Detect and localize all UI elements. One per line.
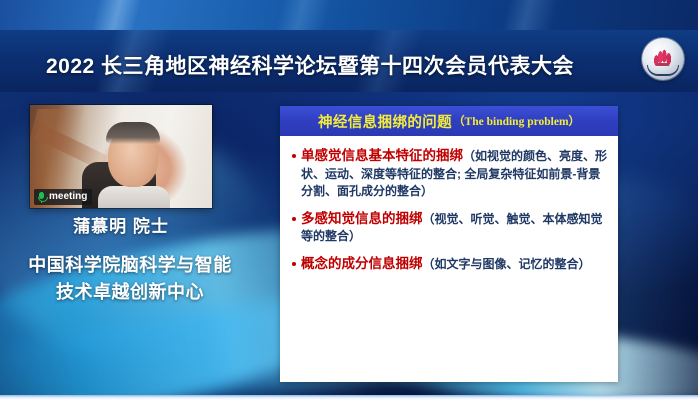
microphone-icon bbox=[37, 192, 46, 203]
background-bottom-edge bbox=[0, 395, 698, 400]
bullet-lead-text: 多感知觉信息的捆绑 bbox=[301, 211, 423, 226]
presentation-slide[interactable]: 神经信息捆绑的问题 （The binding problem） 单感觉信息基本特… bbox=[280, 106, 618, 382]
bullet-lead-text: 概念的成分信息捆绑 bbox=[301, 256, 423, 271]
meeting-watermark-badge: meeting bbox=[34, 189, 92, 205]
slide-title-english: （The binding problem） bbox=[453, 113, 580, 129]
slide-title-bar: 神经信息捆绑的问题 （The binding problem） bbox=[280, 106, 618, 136]
bullet-lead-text: 单感觉信息基本特征的捆绑 bbox=[301, 148, 463, 163]
emblem-arc-shape bbox=[647, 65, 679, 76]
speaker-video-panel[interactable]: meeting bbox=[30, 105, 212, 208]
speaker-affiliation-line2: 技术卓越创新中心 bbox=[6, 279, 254, 306]
bullet-text: 单感觉信息基本特征的捆绑（如视觉的颜色、亮度、形状、运动、深度等特征的整合; 全… bbox=[301, 147, 608, 201]
speaker-affiliation-line1: 中国科学院脑科学与智能 bbox=[6, 252, 254, 279]
slide-title-chinese: 神经信息捆绑的问题 bbox=[318, 111, 452, 132]
slide-body: 单感觉信息基本特征的捆绑（如视觉的颜色、亮度、形状、运动、深度等特征的整合; 全… bbox=[280, 136, 618, 273]
bullet-dot-icon bbox=[292, 262, 296, 266]
presentation-screen: 2022 长三角地区神经科学论坛暨第十四次会员代表大会 meeting 蒲慕明 … bbox=[0, 0, 698, 400]
bullet-text: 多感知觉信息的捆绑（视觉、听觉、触觉、本体感知觉等的整合） bbox=[301, 210, 608, 246]
video-speaker-hair bbox=[106, 122, 160, 144]
bullet-dot-icon bbox=[292, 154, 296, 158]
meeting-badge-label: meeting bbox=[49, 192, 87, 202]
slide-bullet-3: 概念的成分信息捆绑（如文字与图像、记忆的整合） bbox=[290, 255, 608, 274]
slide-bullet-1: 单感觉信息基本特征的捆绑（如视觉的颜色、亮度、形状、运动、深度等特征的整合; 全… bbox=[290, 147, 608, 201]
conference-title: 2022 长三角地区神经科学论坛暨第十四次会员代表大会 bbox=[46, 50, 574, 80]
speaker-name: 蒲慕明 院士 bbox=[30, 212, 212, 237]
slide-bullet-2: 多感知觉信息的捆绑（视觉、听觉、触觉、本体感知觉等的整合） bbox=[290, 210, 608, 246]
speaker-affiliation: 中国科学院脑科学与智能 技术卓越创新中心 bbox=[6, 252, 254, 306]
bullet-rest-text: （如文字与图像、记忆的整合） bbox=[423, 257, 591, 271]
bullet-text: 概念的成分信息捆绑（如文字与图像、记忆的整合） bbox=[301, 255, 608, 274]
video-speaker-shirt bbox=[98, 186, 170, 208]
bullet-dot-icon bbox=[292, 217, 296, 221]
conference-emblem-icon bbox=[642, 38, 684, 80]
